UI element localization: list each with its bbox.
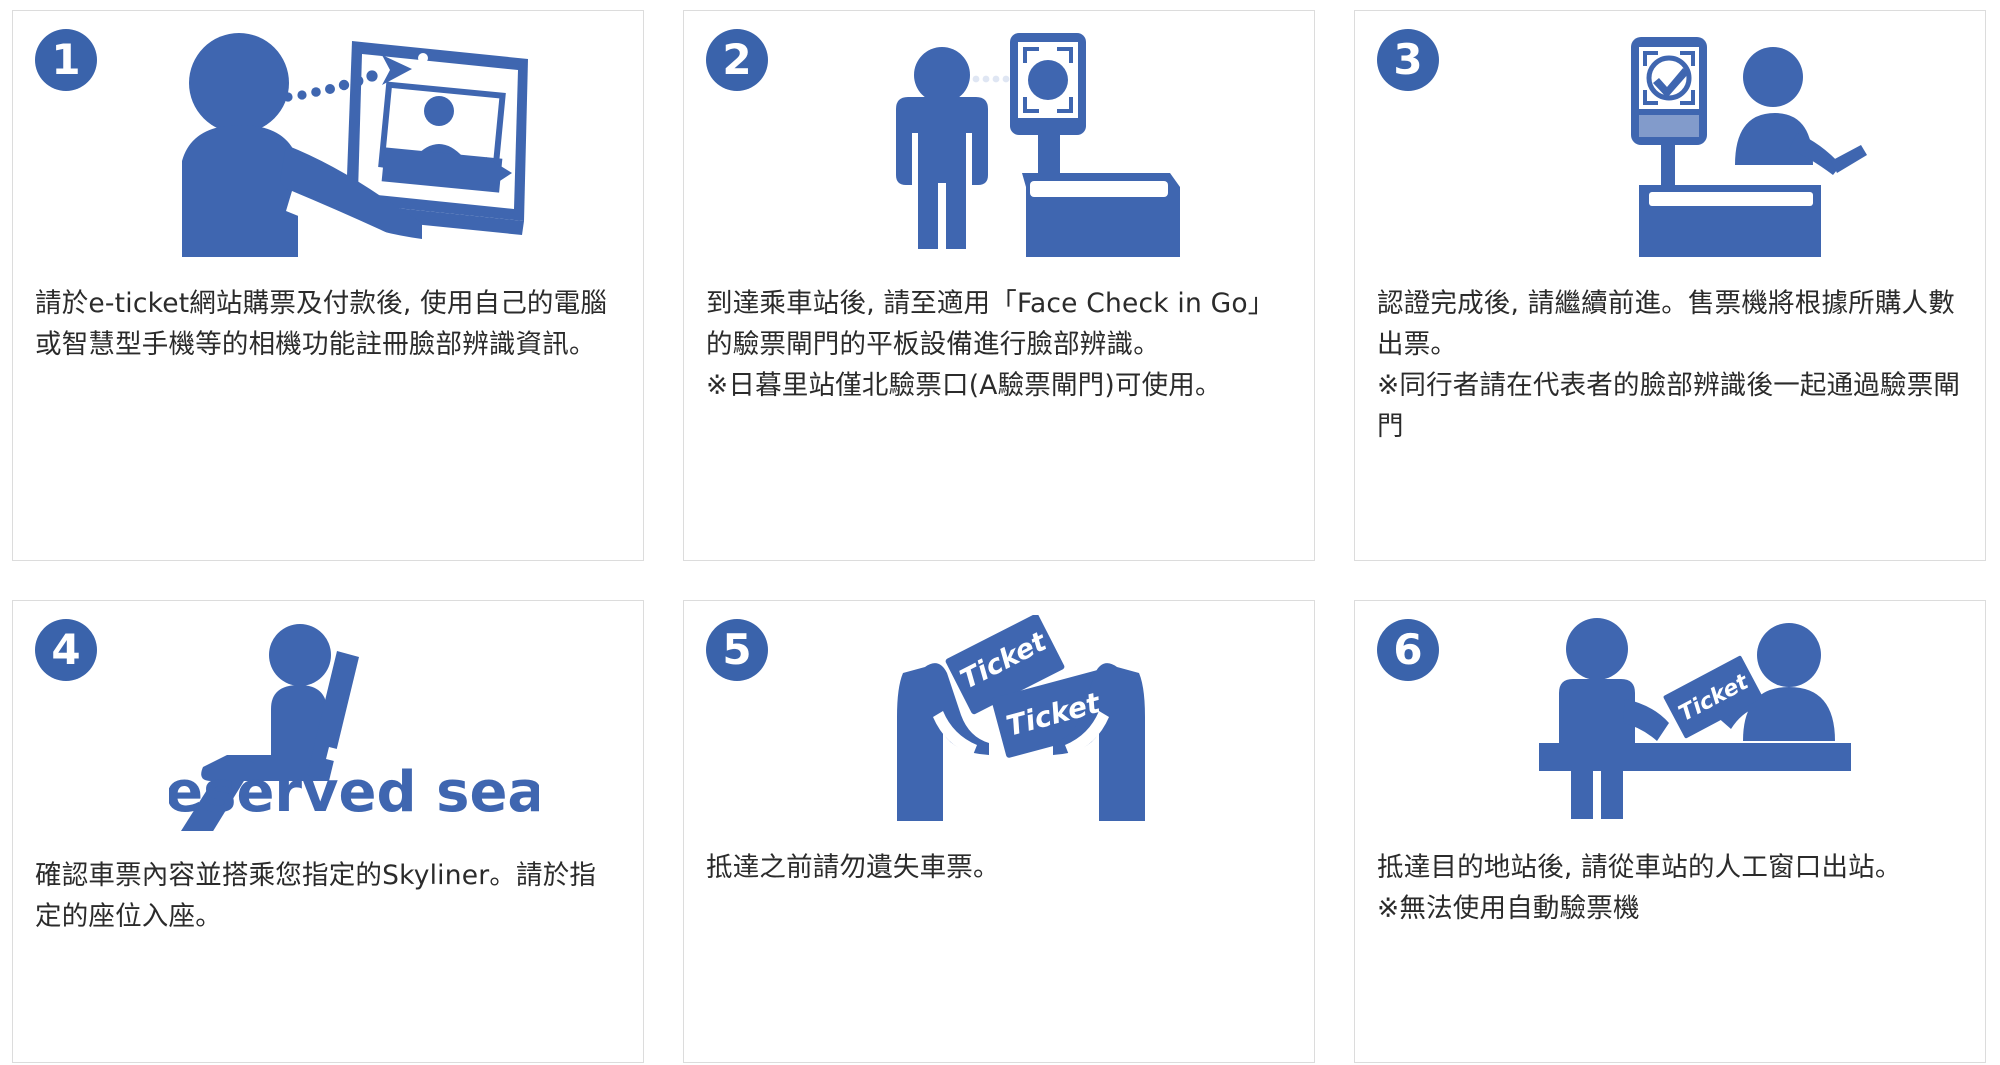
step-3-illustration-row: 3 (1377, 29, 1963, 257)
step-card-4: 4 (12, 600, 644, 1063)
step-5-caption: 抵達之前請勿遺失車票。 (706, 847, 1292, 888)
step-number-badge-2: 2 (706, 29, 768, 91)
step-5-illustration-row: 5 Ticket Tic (706, 619, 1292, 823)
person-at-gate-tablet-face-scan-icon (768, 25, 1292, 257)
step-3-caption: 認證完成後, 請繼續前進。售票機將根據所購人數出票。 ※同行者請在代表者的臉部辨… (1377, 283, 1963, 447)
step-card-1: 1 (12, 10, 644, 561)
hands-holding-tickets-icon: Ticket Ticket (768, 615, 1292, 823)
step-6-caption: 抵達目的地站後, 請從車站的人工窗口出站。 ※無法使用自動驗票機 (1377, 847, 1963, 929)
step-2-illustration-row: 2 (706, 29, 1292, 257)
step-card-6: 6 (1354, 600, 1986, 1063)
step-number-badge-3: 3 (1377, 29, 1439, 91)
step-number-badge-6: 6 (1377, 619, 1439, 681)
step-card-5: 5 Ticket Tic (683, 600, 1315, 1063)
step-4-caption: 確認車票內容並搭乘您指定的Skyliner。請於指定的座位入座。 (35, 855, 621, 937)
steps-grid: 1 (0, 0, 2000, 1065)
step-1-illustration-row: 1 (35, 29, 621, 257)
passenger-handing-ticket-to-staff-icon: Ticket (1439, 615, 1963, 823)
reserved-seat-icon: Reserved seat (87, 621, 621, 831)
step-2-caption: 到達乘車站後, 請至適用「Face Check in Go」的驗票閘門的平板設備… (706, 283, 1292, 406)
step-card-2: 2 (683, 10, 1315, 561)
gate-tablet-check-mark-passenger-icon (1439, 25, 1963, 257)
reserved-seat-label: Reserved seat (169, 760, 539, 825)
step-number-badge-1: 1 (35, 29, 97, 91)
step-1-caption: 請於e-ticket網站購票及付款後, 使用自己的電腦或智慧型手機等的相機功能註… (35, 283, 621, 365)
person-at-computer-face-registration-icon (91, 25, 621, 257)
step-4-illustration-row: 4 (35, 619, 621, 831)
step-6-illustration-row: 6 (1377, 619, 1963, 823)
step-number-badge-5: 5 (706, 619, 768, 681)
step-card-3: 3 (1354, 10, 1986, 561)
